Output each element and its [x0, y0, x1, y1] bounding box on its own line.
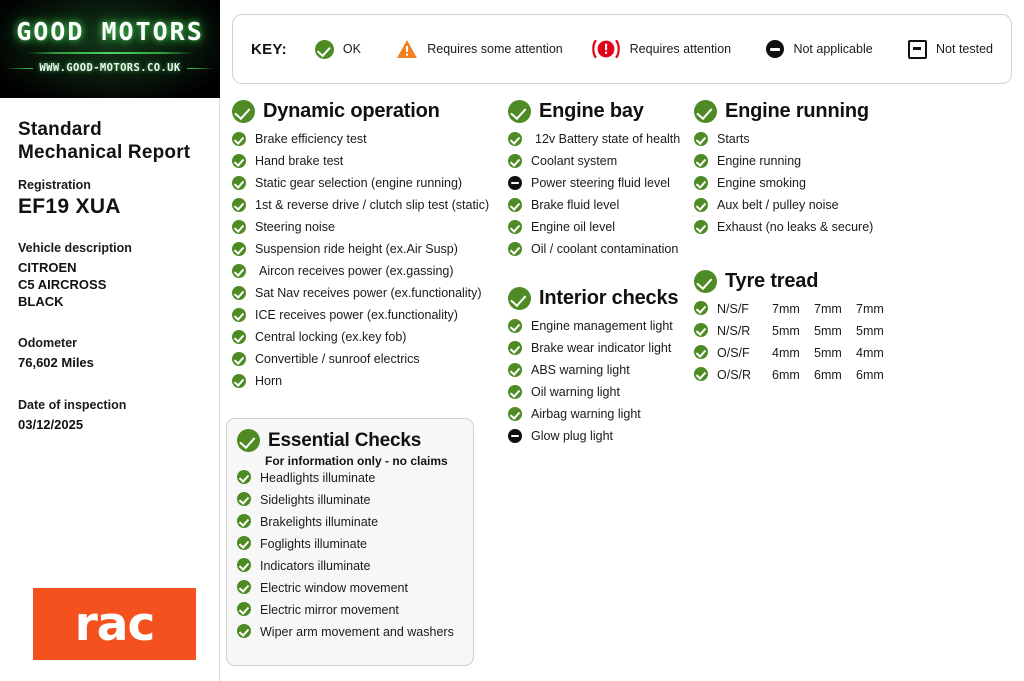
ok-check-icon: [315, 40, 334, 59]
mechanical-report-page: GOOD MOTORS WWW.GOOD-MOTORS.CO.UK Standa…: [0, 0, 1024, 681]
registration-value: EF19 XUA: [18, 195, 201, 219]
ok-check-icon: [508, 385, 522, 399]
ok-check-icon: [508, 319, 522, 333]
ok-check-icon: [232, 100, 255, 123]
section-column-middle: Engine bay 12v Battery state of health C…: [508, 100, 690, 450]
tyre-depth-inner: 7mm: [856, 302, 890, 316]
check-row: Foglights illuminate: [237, 536, 461, 558]
ok-check-icon: [232, 308, 246, 322]
dealer-name: GOOD MOTORS: [0, 17, 220, 46]
tyre-depth-middle: 5mm: [814, 346, 848, 360]
check-row: Electric mirror movement: [237, 602, 461, 624]
check-row: Static gear selection (engine running): [232, 175, 500, 197]
section-title-dynamic-operation: Dynamic operation: [263, 100, 440, 123]
ok-check-icon: [232, 220, 246, 234]
check-row: Brake wear indicator light: [508, 340, 690, 362]
ok-check-icon: [232, 132, 246, 146]
ok-check-icon: [508, 198, 522, 212]
tyre-depth-outer: 6mm: [772, 368, 806, 382]
section-header-tyre-tread: Tyre tread: [694, 270, 904, 293]
check-label: Indicators illuminate: [260, 558, 370, 573]
tyre-depths: 6mm 6mm 6mm: [772, 367, 890, 382]
page-title: Standard Mechanical Report: [18, 118, 201, 164]
ok-check-icon: [232, 352, 246, 366]
check-label: Aircon receives power (ex.gassing): [255, 263, 454, 278]
check-label: Sidelights illuminate: [260, 492, 370, 507]
tyre-row: O/S/F 4mm 5mm 4mm: [694, 345, 904, 367]
check-row: ICE receives power (ex.functionality): [232, 307, 500, 329]
check-row: Convertible / sunroof electrics: [232, 351, 500, 373]
check-label: Horn: [255, 373, 282, 388]
check-row: Engine oil level: [508, 219, 690, 241]
check-row: 1st & reverse drive / clutch slip test (…: [232, 197, 500, 219]
check-row: Glow plug light: [508, 428, 690, 450]
url-line-left: [6, 68, 33, 69]
ok-check-icon: [508, 407, 522, 421]
check-row: Sidelights illuminate: [237, 492, 461, 514]
key-item-some-attention: Requires some attention: [396, 39, 563, 59]
tyre-position: N/S/R: [717, 323, 763, 338]
check-label: Hand brake test: [255, 153, 343, 168]
ok-check-icon: [237, 492, 251, 506]
odometer-value: 76,602 Miles: [18, 355, 201, 372]
check-label: Engine oil level: [531, 219, 615, 234]
check-label: Convertible / sunroof electrics: [255, 351, 420, 366]
check-label: Brake efficiency test: [255, 131, 367, 146]
tyre-depth-inner: 5mm: [856, 324, 890, 338]
essential-checks-subtitle: For information only - no claims: [265, 454, 461, 468]
check-row: Steering noise: [232, 219, 500, 241]
check-label: Oil / coolant contamination: [531, 241, 678, 256]
key-label-not-applicable: Not applicable: [793, 42, 872, 56]
check-label: 12v Battery state of health: [531, 131, 680, 146]
logo-divider-rule: [26, 52, 194, 54]
check-label: Exhaust (no leaks & secure): [717, 219, 873, 234]
ok-check-icon: [694, 132, 708, 146]
check-label: Foglights illuminate: [260, 536, 367, 551]
check-label: Aux belt / pulley noise: [717, 197, 839, 212]
ok-check-icon: [694, 301, 708, 315]
check-row: 12v Battery state of health: [508, 131, 690, 153]
tyre-depth-outer: 5mm: [772, 324, 806, 338]
ok-check-icon: [694, 367, 708, 381]
ok-check-icon: [508, 363, 522, 377]
check-label: Engine management light: [531, 318, 673, 333]
check-row: Wiper arm movement and washers: [237, 624, 461, 646]
key-item-not-tested: Not tested: [908, 40, 993, 59]
tyre-row: N/S/R 5mm 5mm 5mm: [694, 323, 904, 345]
check-label: Wiper arm movement and washers: [260, 624, 454, 639]
check-row: Exhaust (no leaks & secure): [694, 219, 904, 241]
ok-check-icon: [232, 374, 246, 388]
check-label: Coolant system: [531, 153, 617, 168]
ok-check-icon: [237, 429, 260, 452]
ok-check-icon: [694, 345, 708, 359]
logo-glow-backdrop: [0, 0, 220, 98]
section-header-dynamic-operation: Dynamic operation: [232, 100, 500, 123]
section-header-essential-checks: Essential Checks: [237, 429, 461, 452]
check-label: Engine smoking: [717, 175, 806, 190]
ok-check-icon: [508, 287, 531, 310]
warning-triangle-icon: [396, 39, 418, 59]
ok-check-icon: [508, 132, 522, 146]
check-label: Central locking (ex.key fob): [255, 329, 406, 344]
vehicle-description-label: Vehicle description: [18, 241, 201, 255]
check-row: Aircon receives power (ex.gassing): [232, 263, 500, 285]
ok-check-icon: [237, 624, 251, 638]
dealer-website: WWW.GOOD-MOTORS.CO.UK: [39, 62, 180, 74]
registration-label: Registration: [18, 178, 201, 192]
key-item-not-applicable: Not applicable: [766, 40, 872, 58]
ok-check-icon: [694, 323, 708, 337]
check-label: Headlights illuminate: [260, 470, 375, 485]
ok-check-icon: [232, 154, 246, 168]
ok-check-icon: [694, 100, 717, 123]
check-label: Static gear selection (engine running): [255, 175, 462, 190]
tyre-position: N/S/F: [717, 301, 763, 316]
check-row: Electric window movement: [237, 580, 461, 602]
check-label: ABS warning light: [531, 362, 630, 377]
tyre-depth-middle: 6mm: [814, 368, 848, 382]
check-row: Brake fluid level: [508, 197, 690, 219]
ok-check-icon: [694, 270, 717, 293]
tyre-depth-inner: 6mm: [856, 368, 890, 382]
rac-partner-logo: rac: [33, 588, 196, 660]
url-line-right: [187, 68, 214, 69]
check-row: Airbag warning light: [508, 406, 690, 428]
check-row: Engine running: [694, 153, 904, 175]
report-sidebar: GOOD MOTORS WWW.GOOD-MOTORS.CO.UK Standa…: [0, 0, 220, 681]
not-applicable-icon: [766, 40, 784, 58]
check-label: ICE receives power (ex.functionality): [255, 307, 458, 322]
ok-check-icon: [237, 580, 251, 594]
inspection-date-value: 03/12/2025: [18, 417, 201, 434]
tyre-depth-middle: 7mm: [814, 302, 848, 316]
check-row: Brake efficiency test: [232, 131, 500, 153]
ok-check-icon: [508, 154, 522, 168]
key-item-attention: Requires attention: [591, 38, 731, 60]
ok-check-icon: [694, 220, 708, 234]
tyre-row: N/S/F 7mm 7mm 7mm: [694, 301, 904, 323]
check-row: Engine management light: [508, 318, 690, 340]
ok-check-icon: [237, 536, 251, 550]
inspection-date-label: Date of inspection: [18, 398, 201, 412]
dealer-website-row: WWW.GOOD-MOTORS.CO.UK: [0, 62, 220, 74]
check-label: Electric window movement: [260, 580, 408, 595]
check-label: Electric mirror movement: [260, 602, 399, 617]
ok-check-icon: [508, 100, 531, 123]
ok-check-icon: [237, 470, 251, 484]
ok-check-icon: [232, 176, 246, 190]
odometer-label: Odometer: [18, 336, 201, 350]
dealer-logo: GOOD MOTORS WWW.GOOD-MOTORS.CO.UK: [0, 0, 220, 98]
tyre-depths: 4mm 5mm 4mm: [772, 345, 890, 360]
section-header-engine-running: Engine running: [694, 100, 904, 123]
ok-check-icon: [508, 242, 522, 256]
ok-check-icon: [237, 558, 251, 572]
check-row: Oil warning light: [508, 384, 690, 406]
check-row: Coolant system: [508, 153, 690, 175]
section-title-engine-running: Engine running: [725, 100, 869, 123]
check-row: Headlights illuminate: [237, 470, 461, 492]
check-label: Brake wear indicator light: [531, 340, 671, 355]
section-header-interior-checks: Interior checks: [508, 287, 690, 310]
rac-logo-text: rac: [75, 601, 155, 648]
ok-check-icon: [508, 341, 522, 355]
check-row: Horn: [232, 373, 500, 395]
check-label: Oil warning light: [531, 384, 620, 399]
ok-check-icon: [232, 242, 246, 256]
check-label: Brakelights illuminate: [260, 514, 378, 529]
check-row: Engine smoking: [694, 175, 904, 197]
section-title-tyre-tread: Tyre tread: [725, 270, 818, 293]
not-tested-icon: [908, 40, 927, 59]
ok-check-icon: [237, 602, 251, 616]
check-row: ABS warning light: [508, 362, 690, 384]
tyre-depth-inner: 4mm: [856, 346, 890, 360]
section-column-left: Dynamic operation Brake efficiency test …: [232, 100, 500, 395]
tyre-depths: 5mm 5mm 5mm: [772, 323, 890, 338]
sidebar-details: Standard Mechanical Report Registration …: [0, 98, 219, 433]
ok-check-icon: [232, 286, 246, 300]
check-label: Glow plug light: [531, 428, 613, 443]
tyre-depths: 7mm 7mm 7mm: [772, 301, 890, 316]
ok-check-icon: [232, 330, 246, 344]
check-row: Oil / coolant contamination: [508, 241, 690, 263]
check-row: Starts: [694, 131, 904, 153]
tyre-depth-middle: 5mm: [814, 324, 848, 338]
key-legend-label: KEY:: [251, 41, 287, 58]
key-label-some-attention: Requires some attention: [427, 42, 563, 56]
section-title-interior-checks: Interior checks: [539, 287, 678, 310]
section-title-engine-bay: Engine bay: [539, 100, 644, 123]
essential-checks-panel: Essential Checks For information only - …: [226, 418, 474, 666]
vehicle-description-value: CITROEN C5 AIRCROSS BLACK: [18, 260, 201, 310]
ok-check-icon: [232, 264, 246, 278]
ok-check-icon: [232, 198, 246, 212]
check-label: Engine running: [717, 153, 801, 168]
key-item-ok: OK: [315, 40, 361, 59]
ok-check-icon: [508, 220, 522, 234]
check-label: Steering noise: [255, 219, 335, 234]
check-label: 1st & reverse drive / clutch slip test (…: [255, 197, 489, 212]
check-label: Starts: [717, 131, 750, 146]
check-label: Sat Nav receives power (ex.functionality…: [255, 285, 481, 300]
key-label-ok: OK: [343, 42, 361, 56]
section-column-right: Engine running Starts Engine running Eng…: [694, 100, 904, 389]
ok-check-icon: [237, 514, 251, 528]
not-applicable-icon: [508, 176, 522, 190]
check-row: Suspension ride height (ex.Air Susp): [232, 241, 500, 263]
check-row: Sat Nav receives power (ex.functionality…: [232, 285, 500, 307]
key-label-not-tested: Not tested: [936, 42, 993, 56]
check-row: Indicators illuminate: [237, 558, 461, 580]
check-row: Brakelights illuminate: [237, 514, 461, 536]
key-label-attention: Requires attention: [630, 42, 731, 56]
not-applicable-icon: [508, 429, 522, 443]
section-title-essential-checks: Essential Checks: [268, 430, 421, 452]
tyre-row: O/S/R 6mm 6mm 6mm: [694, 367, 904, 389]
tyre-position: O/S/F: [717, 345, 763, 360]
attention-alert-icon: [591, 38, 621, 60]
ok-check-icon: [694, 198, 708, 212]
check-label: Airbag warning light: [531, 406, 641, 421]
check-row: Central locking (ex.key fob): [232, 329, 500, 351]
section-header-engine-bay: Engine bay: [508, 100, 690, 123]
ok-check-icon: [694, 176, 708, 190]
tyre-depth-outer: 4mm: [772, 346, 806, 360]
check-row: Hand brake test: [232, 153, 500, 175]
check-row: Aux belt / pulley noise: [694, 197, 904, 219]
tyre-depth-outer: 7mm: [772, 302, 806, 316]
check-row: Power steering fluid level: [508, 175, 690, 197]
tyre-position: O/S/R: [717, 367, 763, 382]
check-label: Suspension ride height (ex.Air Susp): [255, 241, 458, 256]
check-label: Brake fluid level: [531, 197, 619, 212]
check-label: Power steering fluid level: [531, 175, 670, 190]
status-key-legend: KEY: OK Requires some attention: [232, 14, 1012, 84]
ok-check-icon: [694, 154, 708, 168]
